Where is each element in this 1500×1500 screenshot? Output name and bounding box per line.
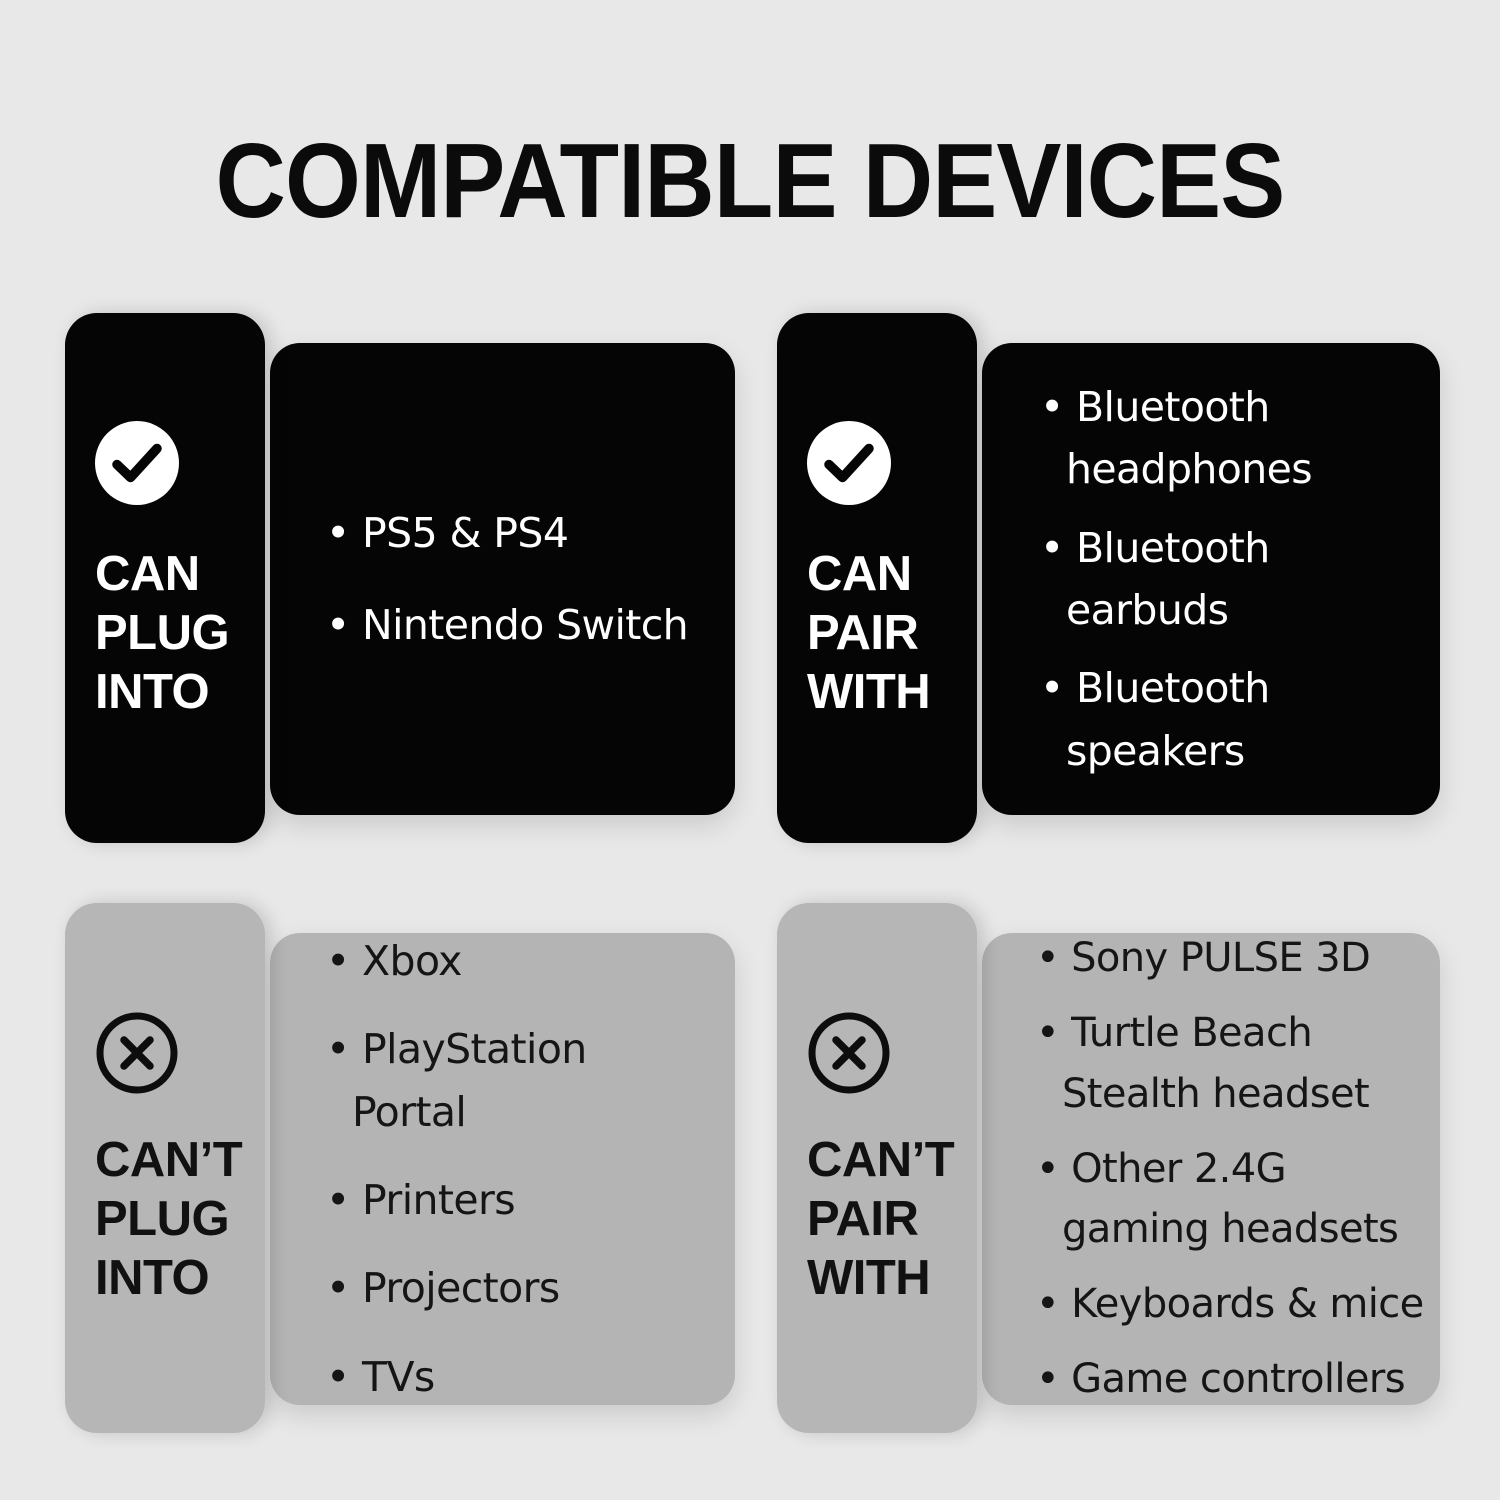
list-item-label: Projectors	[362, 1264, 560, 1312]
device-list-can-plug-into: • PS5 & PS4 • Nintendo Switch	[270, 343, 735, 815]
bullet-glyph: •	[326, 1264, 350, 1312]
list-item: • Xbox	[326, 930, 711, 992]
list-item-label: Bluetooth earbuds	[1066, 524, 1270, 634]
bullet-glyph: •	[326, 937, 350, 985]
list-item: • TVs	[326, 1346, 711, 1408]
list-item: • Game controllers	[1036, 1349, 1434, 1410]
bullet-glyph: •	[326, 601, 350, 649]
list-item: • PlayStation Portal	[326, 1018, 711, 1143]
label-can-pair-with: CAN PAIR WITH	[807, 545, 982, 721]
bullet-glyph: •	[1040, 383, 1064, 431]
list-item: • Projectors	[326, 1257, 711, 1319]
card-can-pair-with: • Bluetooth headphones • Bluetooth earbu…	[777, 313, 1447, 843]
x-circle-icon	[95, 1011, 179, 1095]
content-panel-cant-plug-into: • Xbox • PlayStation Portal • Printers •…	[270, 933, 735, 1405]
content-panel-can-plug-into: • PS5 & PS4 • Nintendo Switch	[270, 343, 735, 815]
list-item: • Keyboards & mice	[1036, 1274, 1434, 1335]
label-word: PAIR	[807, 1190, 982, 1249]
x-circle-icon	[807, 1011, 891, 1095]
bullet-glyph: •	[1040, 524, 1064, 572]
list-item-label: Xbox	[362, 937, 462, 985]
bullet-glyph: •	[1036, 935, 1059, 981]
list-item-label: TVs	[362, 1353, 435, 1401]
bullet-glyph: •	[1036, 1356, 1059, 1402]
label-cant-pair-with: CAN’T PAIR WITH	[807, 1131, 982, 1307]
device-list-cant-plug-into: • Xbox • PlayStation Portal • Printers •…	[270, 933, 735, 1405]
label-word: WITH	[807, 1249, 982, 1308]
list-item-label: Bluetooth speakers	[1066, 664, 1270, 774]
label-word: PLUG	[95, 604, 270, 663]
list-item-label: PS5 & PS4	[362, 509, 568, 557]
bullet-glyph: •	[326, 509, 350, 557]
label-panel-can-plug-into: CAN PLUG INTO	[65, 313, 265, 843]
list-item-label: Other 2.4G gaming headsets	[1062, 1146, 1398, 1253]
label-word: CAN’T	[807, 1131, 982, 1190]
bullet-glyph: •	[1036, 1281, 1059, 1327]
list-item-label: Nintendo Switch	[362, 601, 688, 649]
device-list-cant-pair-with: • Sony PULSE 3D • Turtle Beach Stealth h…	[982, 933, 1440, 1405]
list-item-label: Keyboards & mice	[1071, 1281, 1424, 1327]
list-item: • PS5 & PS4	[326, 502, 711, 564]
list-item: • Bluetooth earbuds	[1040, 517, 1430, 642]
list-item: • Printers	[326, 1169, 711, 1231]
bullet-glyph: •	[1036, 1010, 1059, 1056]
list-item: • Bluetooth headphones	[1040, 376, 1430, 501]
card-can-plug-into: • PS5 & PS4 • Nintendo Switch CAN PLUG I…	[65, 313, 735, 843]
check-circle-icon	[807, 421, 891, 505]
label-word: PLUG	[95, 1190, 270, 1249]
label-word: INTO	[95, 1249, 270, 1308]
label-word: INTO	[95, 663, 270, 722]
list-item-label: Game controllers	[1071, 1356, 1405, 1402]
label-word: PAIR	[807, 604, 982, 663]
list-item-label: Sony PULSE 3D	[1071, 935, 1370, 981]
list-item: • Turtle Beach Stealth headset	[1036, 1003, 1434, 1125]
check-circle-icon	[95, 421, 179, 505]
bullet-glyph: •	[326, 1353, 350, 1401]
label-word: WITH	[807, 663, 982, 722]
list-item: • Nintendo Switch	[326, 594, 711, 656]
label-panel-cant-plug-into: CAN’T PLUG INTO	[65, 903, 265, 1433]
card-cant-plug-into: • Xbox • PlayStation Portal • Printers •…	[65, 903, 735, 1433]
label-word: CAN	[807, 545, 982, 604]
label-panel-cant-pair-with: CAN’T PAIR WITH	[777, 903, 977, 1433]
list-item-label: Bluetooth headphones	[1066, 383, 1312, 493]
bullet-glyph: •	[1040, 664, 1064, 712]
list-item-label: Turtle Beach Stealth headset	[1062, 1010, 1369, 1117]
content-panel-can-pair-with: • Bluetooth headphones • Bluetooth earbu…	[982, 343, 1440, 815]
label-word: CAN’T	[95, 1131, 270, 1190]
list-item-label: PlayStation Portal	[352, 1025, 587, 1135]
bullet-glyph: •	[326, 1025, 350, 1073]
bullet-glyph: •	[326, 1176, 350, 1224]
list-item: • Sony PULSE 3D	[1036, 928, 1434, 989]
list-item-label: Printers	[362, 1176, 515, 1224]
list-item: • Other 2.4G gaming headsets	[1036, 1139, 1434, 1261]
device-list-can-pair-with: • Bluetooth headphones • Bluetooth earbu…	[982, 343, 1440, 815]
bullet-glyph: •	[1036, 1146, 1059, 1192]
list-item: • Bluetooth speakers	[1040, 657, 1430, 782]
label-can-plug-into: CAN PLUG INTO	[95, 545, 270, 721]
label-panel-can-pair-with: CAN PAIR WITH	[777, 313, 977, 843]
compatibility-card-grid: • PS5 & PS4 • Nintendo Switch CAN PLUG I…	[0, 0, 1500, 1500]
label-cant-plug-into: CAN’T PLUG INTO	[95, 1131, 270, 1307]
card-cant-pair-with: • Sony PULSE 3D • Turtle Beach Stealth h…	[777, 903, 1447, 1433]
label-word: CAN	[95, 545, 270, 604]
content-panel-cant-pair-with: • Sony PULSE 3D • Turtle Beach Stealth h…	[982, 933, 1440, 1405]
